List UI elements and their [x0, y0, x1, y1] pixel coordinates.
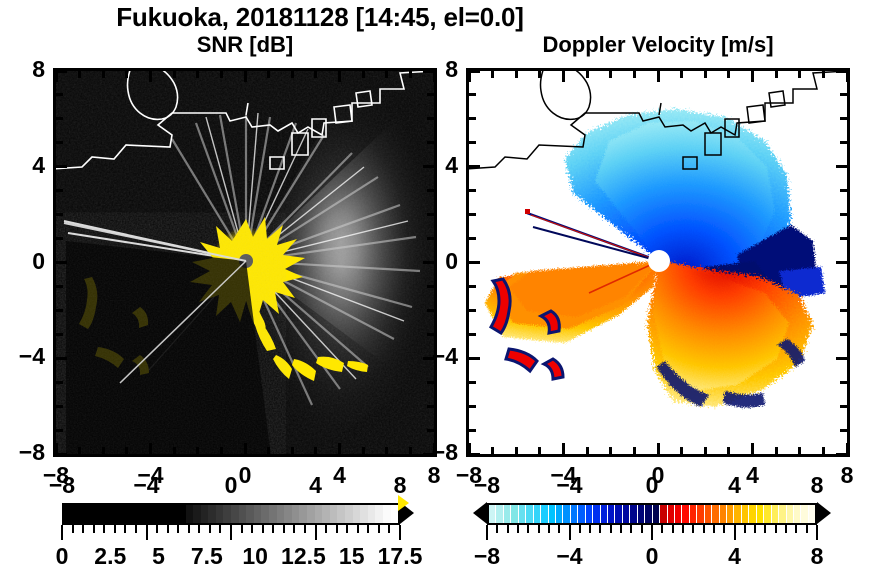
- tick-snr-y: [56, 453, 67, 456]
- tick-snr-y: [56, 429, 63, 432]
- colorbar-segment: [763, 505, 770, 523]
- colorbar-tick-dop: [569, 525, 571, 540]
- colorbar-segment: [383, 505, 391, 523]
- panel-title-doppler: Doppler Velocity [m/s]: [466, 32, 850, 58]
- colorbar-segment: [540, 505, 547, 523]
- tick-snr-y: [56, 285, 63, 288]
- colorbar-segment: [644, 505, 651, 523]
- tick-dop-x-top: [704, 71, 707, 78]
- tick-dop-x-top: [680, 71, 683, 78]
- tick-snr-x: [338, 443, 341, 454]
- colorbar-tick-snr: [188, 525, 190, 533]
- tick-snr-y: [56, 70, 67, 73]
- colorbar-tick-snr: [156, 525, 158, 533]
- colorbar-segment: [87, 505, 95, 523]
- colorbar-value-label-dop-2: 0: [612, 543, 692, 570]
- colorbar-axis-label-snr-3: 4: [276, 472, 356, 499]
- tick-dop-x: [775, 447, 778, 454]
- colorbar-tick-snr: [198, 525, 200, 533]
- colorbar-tick-snr: [241, 525, 243, 533]
- colorbar-axis-label-snr-2: 0: [191, 472, 271, 499]
- colorbar-tick-snr: [262, 525, 264, 533]
- colorbar-tick-snr: [325, 525, 327, 533]
- colorbar-tick-dop: [744, 525, 746, 533]
- plot-panel-snr[interactable]: [53, 68, 437, 457]
- colorbar-tick-snr: [367, 525, 369, 533]
- tick-snr-x: [149, 443, 152, 454]
- tick-dop-x-top: [798, 71, 801, 78]
- colorbar-segment: [239, 505, 247, 523]
- colorbar-segment: [269, 505, 277, 523]
- colorbar-tick-dop: [599, 525, 601, 533]
- colorbar-tick-snr: [82, 525, 84, 533]
- colorbar-segment: [637, 505, 644, 523]
- tick-snr-x-top: [149, 71, 152, 82]
- tick-snr-y-right: [427, 405, 434, 408]
- colorbar-segment: [330, 505, 338, 523]
- colorbar-tick-dop: [589, 525, 591, 533]
- ytick-label-dop-1: 4: [412, 152, 458, 179]
- colorbar-segment: [292, 505, 300, 523]
- colorbar-tick-snr: [283, 525, 285, 533]
- tick-dop-y-right: [840, 189, 847, 192]
- tick-dop-x: [538, 447, 541, 454]
- colorbar-segment: [600, 505, 607, 523]
- colorbar-tick-snr: [209, 525, 211, 533]
- ytick-label-snr-3: −4: [0, 343, 45, 370]
- colorbar-tick-dop: [548, 525, 550, 533]
- tick-dop-x: [633, 447, 636, 454]
- colorbar-tick-snr: [72, 525, 74, 533]
- colorbar-segment: [223, 505, 231, 523]
- colorbar-tick-dop: [507, 525, 509, 533]
- colorbar-segment: [216, 505, 224, 523]
- colorbar-axis-label-dop-2: 0: [612, 472, 692, 499]
- colorbar-segment: [391, 505, 399, 523]
- tick-snr-x-top: [55, 71, 58, 82]
- colorbar-segment: [525, 505, 532, 523]
- tick-snr-y-right: [427, 93, 434, 96]
- colorbar-segment: [178, 505, 186, 523]
- colorbar-segment: [614, 505, 621, 523]
- tick-snr-x-top: [125, 71, 128, 78]
- tick-snr-x: [196, 447, 199, 454]
- tick-dop-x: [491, 447, 494, 454]
- colorbar-segment: [622, 505, 629, 523]
- colorbar-value-label-dop-1: −4: [530, 543, 610, 570]
- doppler-radar-origin: [648, 250, 670, 272]
- tick-dop-y: [469, 213, 476, 216]
- colorbar-segment: [793, 505, 800, 523]
- tick-dop-x: [515, 447, 518, 454]
- colorbar-segment: [315, 505, 323, 523]
- tick-snr-y-right: [427, 117, 434, 120]
- colorbar-tick-snr: [103, 525, 105, 533]
- colorbar-segment: [533, 505, 540, 523]
- colorbar-tick-dop: [723, 525, 725, 533]
- tick-snr-x-top: [314, 71, 317, 78]
- colorbar-segment: [72, 505, 80, 523]
- colorbar-tick-dop: [713, 525, 715, 533]
- tick-snr-y: [56, 237, 63, 240]
- colorbar-segment: [299, 505, 307, 523]
- tick-dop-y: [469, 165, 480, 168]
- colorbar-segment: [659, 505, 666, 523]
- colorbar-segment: [667, 505, 674, 523]
- tick-dop-y: [469, 381, 476, 384]
- colorbar-segment: [368, 505, 376, 523]
- colorbar-tick-dop: [795, 525, 797, 533]
- colorbar-axis-label-dop-3: 4: [695, 472, 775, 499]
- tick-dop-y: [469, 309, 476, 312]
- tick-snr-y: [56, 405, 63, 408]
- colorbar-tick-snr: [93, 525, 95, 533]
- colorbar-segment: [629, 505, 636, 523]
- colorbar-tick-snr: [177, 525, 179, 533]
- tick-snr-x-top: [267, 71, 270, 78]
- colorbar-segment: [741, 505, 748, 523]
- tick-dop-x-top: [538, 71, 541, 78]
- tick-dop-y-right: [840, 309, 847, 312]
- colorbar-axis-label-dop-1: −4: [530, 472, 610, 499]
- tick-dop-x: [586, 447, 589, 454]
- colorbar-segment: [652, 505, 659, 523]
- colorbar-tick-snr: [399, 525, 401, 540]
- colorbar-axis-label-snr-4: 8: [360, 472, 440, 499]
- tick-snr-y: [56, 381, 63, 384]
- tick-snr-x-top: [385, 71, 388, 78]
- colorbar-segment: [102, 505, 110, 523]
- tick-dop-y-right: [840, 117, 847, 120]
- panel-title-snr: SNR [dB]: [53, 32, 437, 58]
- tick-snr-x: [220, 447, 223, 454]
- tick-dop-y-right: [840, 405, 847, 408]
- colorbar-segment: [231, 505, 239, 523]
- colorbar-segment: [518, 505, 525, 523]
- colorbar-tick-snr: [272, 525, 274, 533]
- colorbar-segment: [495, 505, 502, 523]
- tick-snr-x-top: [173, 71, 176, 78]
- colorbar-tick-dop: [517, 525, 519, 533]
- tick-dop-y: [469, 405, 476, 408]
- colorbar-segment: [117, 505, 125, 523]
- colorbar-segment: [503, 505, 510, 523]
- tick-dop-x-top: [562, 71, 565, 82]
- ytick-label-snr-2: 0: [0, 248, 45, 275]
- colorbar-tick-snr: [135, 525, 137, 533]
- tick-snr-x-top: [102, 71, 105, 78]
- colorbar-segment: [726, 505, 733, 523]
- colorbar-segment: [125, 505, 133, 523]
- tick-dop-y-right: [840, 429, 847, 432]
- tick-snr-x-top: [362, 71, 365, 78]
- tick-dop-y-right: [836, 261, 847, 264]
- tick-dop-y-right: [836, 165, 847, 168]
- tick-dop-x-top: [491, 71, 494, 78]
- tick-snr-x-top: [244, 71, 247, 82]
- colorbar-segment: [261, 505, 269, 523]
- colorbar-segment: [711, 505, 718, 523]
- colorbar-segment: [246, 505, 254, 523]
- ytick-label-dop-4: −8: [412, 439, 458, 466]
- colorbar-axis-label-dop-0: −8: [447, 472, 527, 499]
- colorbar-doppler-gradient: [487, 503, 817, 525]
- tick-dop-x-top: [846, 71, 849, 82]
- colorbar-segment: [800, 505, 807, 523]
- tick-snr-x: [244, 443, 247, 454]
- tick-snr-x-top: [220, 71, 223, 78]
- tick-dop-y-right: [840, 141, 847, 144]
- tick-snr-y-right: [427, 381, 434, 384]
- tick-dop-x-top: [775, 71, 778, 78]
- tick-snr-y-right: [427, 333, 434, 336]
- colorbar-tick-dop: [641, 525, 643, 533]
- colorbar-segment: [733, 505, 740, 523]
- tick-dop-x-top: [751, 71, 754, 82]
- colorbar-segment: [140, 505, 148, 523]
- tick-snr-y-right: [427, 189, 434, 192]
- tick-dop-y: [469, 357, 480, 360]
- tick-dop-y: [469, 237, 476, 240]
- tick-snr-y: [56, 261, 67, 264]
- colorbar-segment: [375, 505, 383, 523]
- colorbar-segment: [337, 505, 345, 523]
- colorbar-segment: [360, 505, 368, 523]
- colorbar-segment: [132, 505, 140, 523]
- tick-snr-x-top: [78, 71, 81, 78]
- snr-radar-image: [56, 71, 434, 454]
- tick-snr-y-right: [427, 237, 434, 240]
- colorbar-segment: [277, 505, 285, 523]
- colorbar-tick-dop: [661, 525, 663, 533]
- tick-dop-y: [469, 453, 480, 456]
- colorbar-segment: [577, 505, 584, 523]
- ytick-label-dop-0: 8: [412, 56, 458, 83]
- colorbar-segment: [307, 505, 315, 523]
- colorbar-snr-gradient: [62, 503, 400, 525]
- colorbar-tick-dop: [620, 525, 622, 533]
- colorbar-segment: [696, 505, 703, 523]
- colorbar-segment: [193, 505, 201, 523]
- colorbar-tick-snr: [336, 525, 338, 533]
- doppler-radar-image: [469, 71, 847, 454]
- colorbar-tick-dop: [806, 525, 808, 533]
- colorbar-tick-dop: [734, 525, 736, 540]
- colorbar-segment: [155, 505, 163, 523]
- tick-dop-x-top: [633, 71, 636, 78]
- colorbar-segment: [756, 505, 763, 523]
- colorbar-segment: [94, 505, 102, 523]
- colorbar-segment: [719, 505, 726, 523]
- colorbar-tick-dop: [703, 525, 705, 533]
- colorbar-segment: [148, 505, 156, 523]
- colorbar-segment: [186, 505, 194, 523]
- colorbar-segment: [110, 505, 118, 523]
- colorbar-tick-snr: [346, 525, 348, 533]
- tick-snr-x-top: [338, 71, 341, 82]
- colorbar-segment: [808, 505, 815, 523]
- ytick-label-snr-1: 4: [0, 152, 45, 179]
- colorbar-segment: [345, 505, 353, 523]
- tick-snr-x: [125, 447, 128, 454]
- tick-dop-y-right: [840, 333, 847, 336]
- tick-dop-y-right: [840, 237, 847, 240]
- colorbar-segment: [79, 505, 87, 523]
- colorbar-segment: [555, 505, 562, 523]
- colorbar-value-label-dop-3: 4: [695, 543, 775, 570]
- colorbar-value-label-snr-7: 17.5: [360, 543, 440, 570]
- colorbar-segment: [64, 505, 72, 523]
- colorbar-tick-dop: [538, 525, 540, 533]
- tick-snr-x: [78, 447, 81, 454]
- colorbar-tick-dop: [754, 525, 756, 533]
- tick-dop-y-right: [840, 93, 847, 96]
- colorbar-segment: [208, 505, 216, 523]
- tick-dop-x: [751, 443, 754, 454]
- colorbar-segment: [748, 505, 755, 523]
- tick-dop-x: [609, 447, 612, 454]
- ytick-label-snr-4: −8: [0, 439, 45, 466]
- colorbar-tick-dop: [672, 525, 674, 533]
- tick-snr-x-top: [196, 71, 199, 78]
- tick-snr-x: [291, 447, 294, 454]
- tick-dop-x-top: [727, 71, 730, 78]
- tick-dop-y: [469, 429, 476, 432]
- tick-snr-x: [173, 447, 176, 454]
- colorbar-axis-label-snr-0: −8: [22, 472, 102, 499]
- colorbar-tick-snr: [304, 525, 306, 533]
- colorbar-tick-snr: [114, 525, 116, 533]
- colorbar-tick-dop: [486, 525, 488, 540]
- colorbar-tick-dop: [682, 525, 684, 533]
- ytick-label-dop-2: 0: [412, 248, 458, 275]
- tick-dop-y: [469, 261, 480, 264]
- colorbar-tick-snr: [124, 525, 126, 533]
- colorbar-segment: [674, 505, 681, 523]
- colorbar-tick-dop: [630, 525, 632, 533]
- colorbar-segment: [570, 505, 577, 523]
- tick-snr-x: [385, 447, 388, 454]
- tick-dop-y: [469, 70, 480, 73]
- tick-dop-x: [704, 447, 707, 454]
- colorbar-tick-snr: [251, 525, 253, 533]
- colorbar-segment: [353, 505, 361, 523]
- colorbar-value-label-dop-0: −8: [447, 543, 527, 570]
- tick-dop-x-top: [515, 71, 518, 78]
- tick-dop-y-right: [840, 213, 847, 216]
- colorbar-tick-dop: [610, 525, 612, 533]
- tick-snr-y: [56, 117, 63, 120]
- colorbar-tick-snr: [219, 525, 221, 533]
- colorbar-doppler-under-arrow: [473, 502, 487, 524]
- colorbar-segment: [322, 505, 330, 523]
- tick-dop-x: [657, 443, 660, 454]
- colorbar-segment: [284, 505, 292, 523]
- colorbar-tick-snr: [167, 525, 169, 533]
- colorbar-tick-dop: [527, 525, 529, 533]
- colorbar-segment: [592, 505, 599, 523]
- tick-snr-y-right: [427, 309, 434, 312]
- tick-dop-y-right: [840, 285, 847, 288]
- colorbar-tick-dop: [496, 525, 498, 533]
- colorbar-tick-dop: [785, 525, 787, 533]
- tick-dop-x: [680, 447, 683, 454]
- tick-dop-x: [822, 447, 825, 454]
- colorbar-tick-snr: [357, 525, 359, 533]
- colorbar-tick-snr: [61, 525, 63, 540]
- tick-dop-y: [469, 141, 476, 144]
- tick-snr-y: [56, 93, 63, 96]
- tick-dop-x-top: [468, 71, 471, 82]
- tick-dop-y-right: [836, 453, 847, 456]
- tick-snr-y: [56, 165, 67, 168]
- colorbar-segment: [607, 505, 614, 523]
- tick-snr-x-top: [291, 71, 294, 78]
- colorbar-tick-dop: [579, 525, 581, 533]
- ytick-label-dop-3: −4: [412, 343, 458, 370]
- tick-snr-y-right: [427, 141, 434, 144]
- colorbar-tick-snr: [293, 525, 295, 533]
- plot-panel-doppler[interactable]: [466, 68, 850, 457]
- tick-dop-x: [798, 447, 801, 454]
- tick-dop-y: [469, 189, 476, 192]
- tick-dop-y: [469, 93, 476, 96]
- colorbar-segment: [548, 505, 555, 523]
- tick-snr-x: [314, 447, 317, 454]
- colorbar-segment: [510, 505, 517, 523]
- tick-snr-y-right: [427, 213, 434, 216]
- tick-snr-x: [362, 447, 365, 454]
- colorbar-tick-snr: [230, 525, 232, 540]
- tick-dop-x-top: [657, 71, 660, 82]
- colorbar-tick-dop: [558, 525, 560, 533]
- tick-dop-y-right: [836, 357, 847, 360]
- colorbar-tick-dop: [651, 525, 653, 540]
- colorbar-segment: [771, 505, 778, 523]
- colorbar-segment: [201, 505, 209, 523]
- colorbar-segment: [786, 505, 793, 523]
- tick-snr-x: [102, 447, 105, 454]
- tick-snr-y: [56, 141, 63, 144]
- colorbar-tick-snr: [388, 525, 390, 533]
- tick-dop-y-right: [840, 381, 847, 384]
- colorbar-doppler-over-arrow: [817, 502, 831, 524]
- ytick-label-snr-0: 8: [0, 56, 45, 83]
- colorbar-segment: [778, 505, 785, 523]
- tick-snr-y: [56, 213, 63, 216]
- tick-snr-y-right: [427, 285, 434, 288]
- tick-dop-x-top: [609, 71, 612, 78]
- colorbar-tick-snr: [378, 525, 380, 533]
- tick-snr-y: [56, 333, 63, 336]
- colorbar-tick-snr: [146, 525, 148, 540]
- tick-dop-x-top: [822, 71, 825, 78]
- colorbar-tick-dop: [816, 525, 818, 540]
- colorbar-tick-dop: [692, 525, 694, 533]
- colorbar-value-label-dop-4: 8: [777, 543, 857, 570]
- tick-dop-y: [469, 285, 476, 288]
- colorbar-segment: [689, 505, 696, 523]
- colorbar-segment: [585, 505, 592, 523]
- tick-dop-x: [562, 443, 565, 454]
- tick-snr-y: [56, 189, 63, 192]
- tick-dop-y: [469, 333, 476, 336]
- colorbar-tick-snr: [315, 525, 317, 540]
- colorbar-segment: [562, 505, 569, 523]
- colorbar-tick-dop: [764, 525, 766, 533]
- colorbar-tick-dop: [775, 525, 777, 533]
- colorbar-axis-label-dop-4: 8: [777, 472, 857, 499]
